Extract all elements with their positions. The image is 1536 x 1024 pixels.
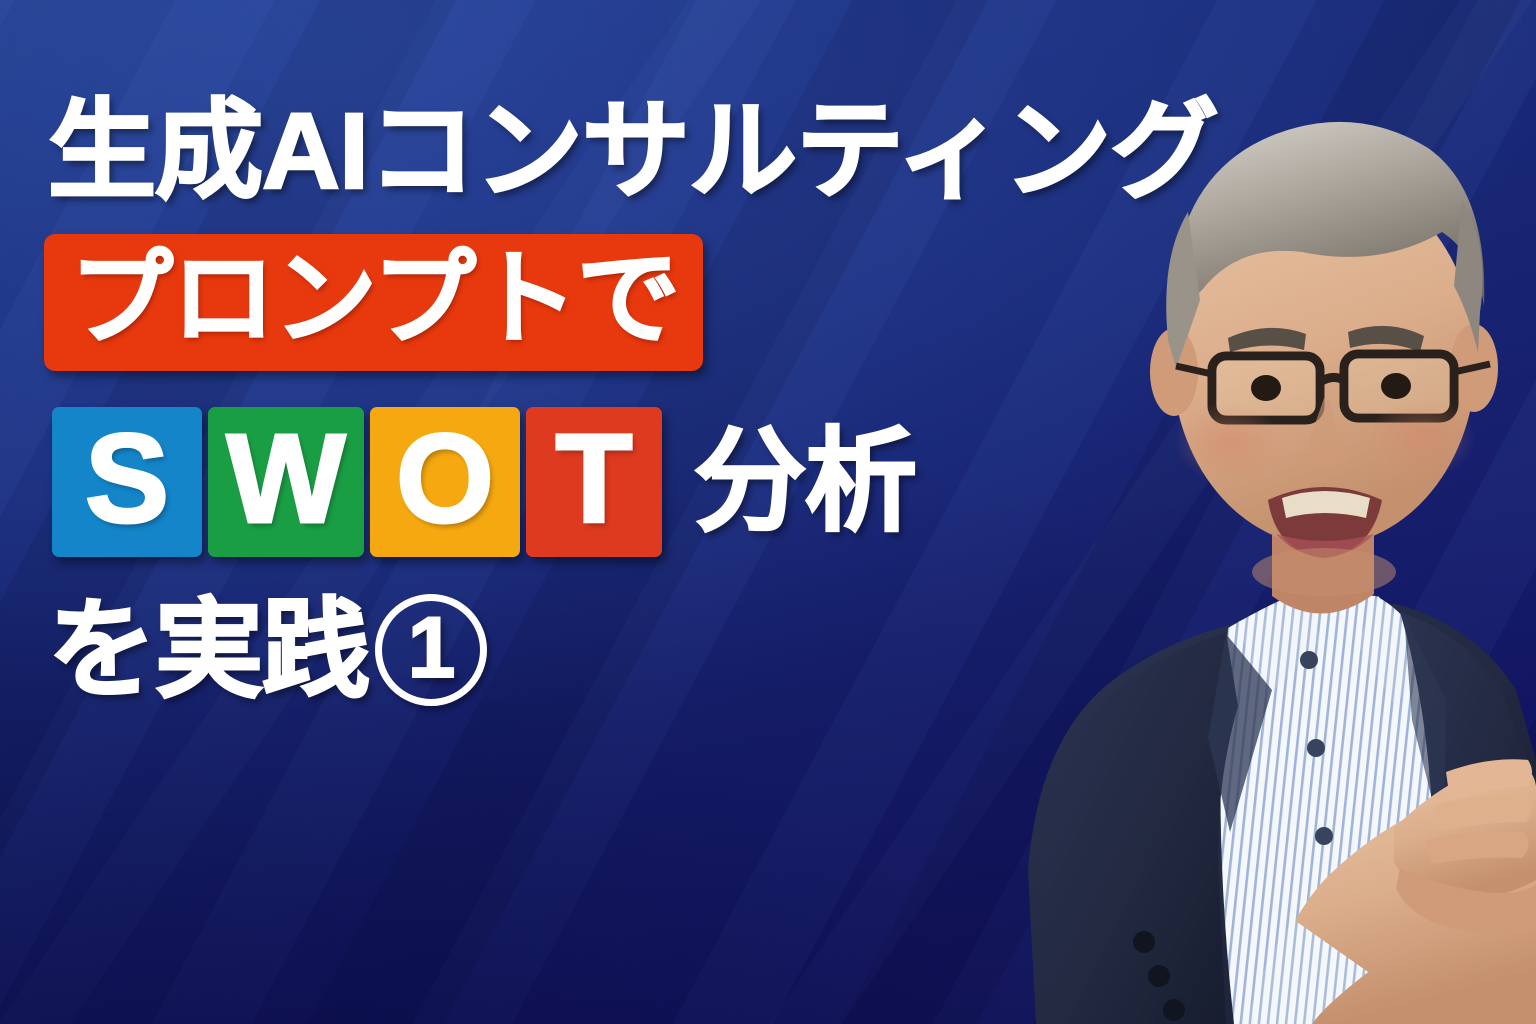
- video-thumbnail: 生成AIコンサルティング プロンプトで S W O T 分析 を実践: [0, 0, 1536, 1024]
- prompt-pill-label: プロンプトで: [70, 243, 679, 354]
- swot-tile-s: S: [52, 407, 202, 557]
- swot-letter-s: S: [85, 416, 169, 542]
- swot-tile-w: W: [208, 407, 364, 557]
- circled-number-badge: 1: [375, 594, 487, 706]
- swot-letter-o: O: [396, 416, 494, 542]
- headline-line-3-text: を実践: [48, 591, 369, 710]
- prompt-pill: プロンプトで: [44, 234, 703, 371]
- swot-tile-o: O: [370, 407, 520, 557]
- title-text-block: 生成AIコンサルティング プロンプトで S W O T 分析 を実践: [44, 92, 1054, 710]
- pill-row: プロンプトで: [44, 234, 1054, 371]
- swot-suffix-label: 分析: [694, 426, 916, 538]
- headline-line-3: を実践 1: [44, 591, 1054, 710]
- headline-line-1: 生成AIコンサルティング: [44, 92, 1054, 210]
- swot-row: S W O T 分析: [52, 407, 1054, 557]
- swot-letter-w: W: [227, 416, 346, 542]
- swot-letter-t: T: [556, 416, 633, 542]
- swot-tile-t: T: [526, 407, 662, 557]
- circled-number-value: 1: [408, 605, 455, 691]
